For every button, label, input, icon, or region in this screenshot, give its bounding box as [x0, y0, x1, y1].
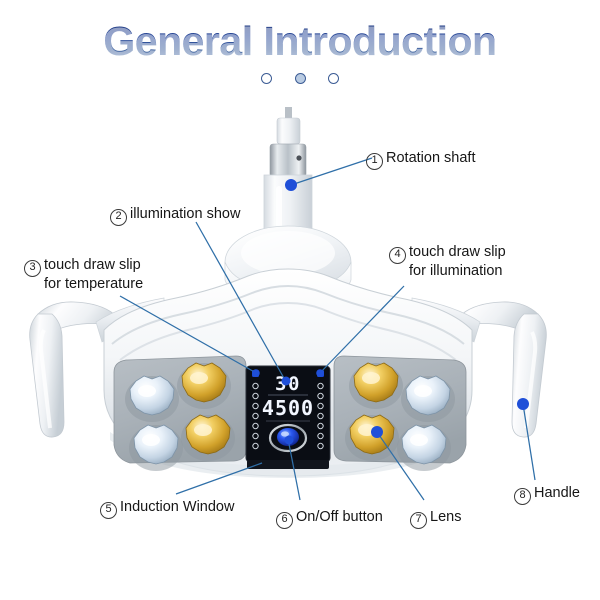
shaft-metal-coupler — [270, 144, 306, 177]
callout-1-label: Rotation shaft — [386, 150, 475, 166]
callout-7-number: 7 — [410, 512, 427, 529]
callout-2-label: illumination show — [130, 206, 240, 222]
callout-3-number: 3 — [24, 260, 41, 277]
shaft-screw — [296, 155, 301, 160]
callout-8: 8Handle — [514, 485, 580, 504]
lens-l4-glint — [194, 424, 212, 436]
callout-3-label-line1: touch draw slip — [44, 257, 141, 273]
callout-5: 5Induction Window — [100, 499, 234, 518]
lens-plate-right — [334, 356, 466, 471]
callout-1-number: 1 — [366, 153, 383, 170]
handle-left-grip — [30, 314, 64, 437]
lens-r4-glint — [410, 434, 428, 446]
shaft-upper-sleeve — [277, 118, 300, 144]
callout-1: 1Rotation shaft — [366, 150, 475, 169]
marker-dot-2 — [282, 377, 291, 386]
rotation-shaft-assembly — [264, 107, 312, 242]
callout-4-label-line1: touch draw slip — [409, 244, 506, 260]
lens-l2-glint — [190, 372, 208, 384]
callout-5-label: Induction Window — [120, 499, 234, 515]
marker-dot-3 — [252, 369, 260, 377]
callout-7: 7Lens — [410, 509, 461, 528]
lens-r2-glint — [414, 385, 432, 397]
handle-right-grip — [512, 314, 546, 437]
marker-dot-4 — [316, 369, 324, 377]
callout-2-number: 2 — [110, 209, 127, 226]
marker-dot-1 — [285, 179, 297, 191]
callout-4: 4touch draw slip for illumination — [389, 244, 506, 280]
slide-canvas: General Introduction — [0, 0, 600, 600]
callout-4-label-line2: for illumination — [389, 263, 506, 280]
callout-5-number: 5 — [100, 502, 117, 519]
callout-7-label: Lens — [430, 509, 461, 525]
marker-dot-8 — [517, 398, 529, 410]
callout-3: 3touch draw slip for temperature — [24, 257, 143, 293]
lens-l1-glint — [138, 385, 156, 397]
shaft-highlight — [276, 186, 282, 232]
dome-gloss — [241, 231, 335, 275]
marker-dot-7 — [371, 426, 383, 438]
illumination-readout: 4500 — [262, 396, 314, 420]
callout-6-label: On/Off button — [296, 509, 383, 525]
callout-8-label: Handle — [534, 485, 580, 501]
lens-plate-left — [114, 356, 246, 471]
marker-dot-6 — [285, 436, 294, 445]
callout-2: 2illumination show — [110, 206, 240, 225]
lens-l3-glint — [142, 434, 160, 446]
shaft-tip — [285, 107, 292, 119]
callout-3-label-line2: for temperature — [24, 276, 143, 293]
callout-6: 6On/Off button — [276, 509, 383, 528]
callout-6-number: 6 — [276, 512, 293, 529]
lens-r1-glint — [362, 372, 380, 384]
callout-8-number: 8 — [514, 488, 531, 505]
callout-4-number: 4 — [389, 247, 406, 264]
